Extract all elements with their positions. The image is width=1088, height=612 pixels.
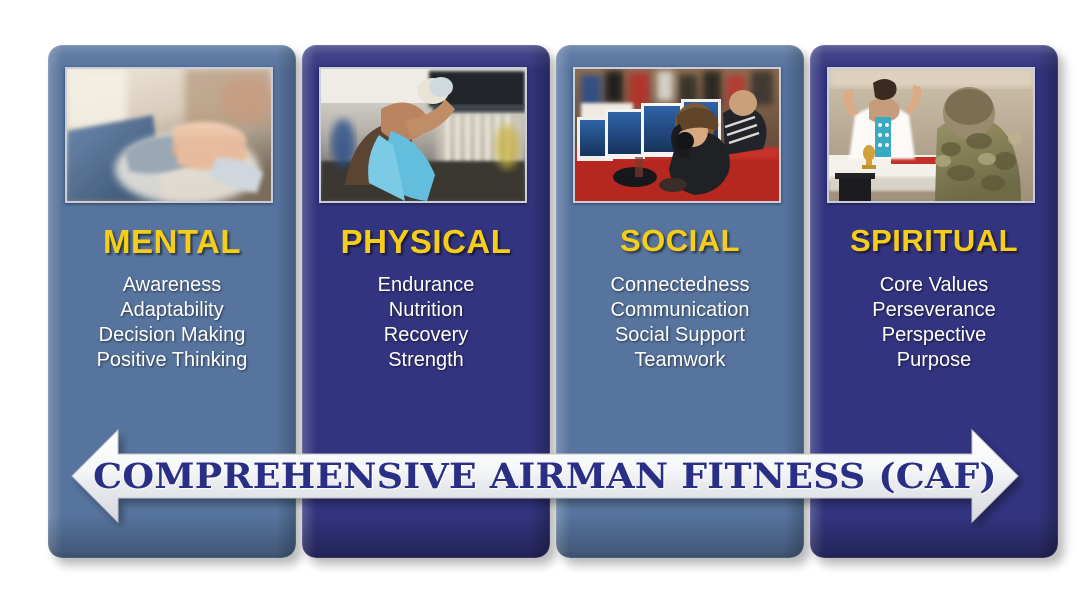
list-item: Endurance	[306, 273, 546, 298]
photo-mental	[65, 67, 273, 203]
list-item: Communication	[560, 298, 800, 323]
pillar-list-physical: Endurance Nutrition Recovery Strength	[306, 273, 546, 373]
pillar-title-physical: PHYSICAL	[302, 223, 550, 261]
infographic-canvas: MENTAL Awareness Adaptability Decision M…	[0, 0, 1088, 612]
photo-mental-art	[67, 69, 271, 201]
photo-spiritual	[827, 67, 1035, 203]
pillar-title-social: SOCIAL	[556, 223, 804, 259]
pillar-list-social: Connectedness Communication Social Suppo…	[560, 273, 800, 373]
list-item: Strength	[306, 348, 546, 373]
pillar-list-mental: Awareness Adaptability Decision Making P…	[52, 273, 292, 373]
photo-spiritual-art	[829, 69, 1033, 201]
list-item: Awareness	[52, 273, 292, 298]
list-item: Social Support	[560, 323, 800, 348]
pillar-title-mental: MENTAL	[48, 223, 296, 261]
pillar-title-spiritual: SPIRITUAL	[810, 223, 1058, 259]
list-item: Perseverance	[814, 298, 1054, 323]
photo-social	[573, 67, 781, 203]
caf-banner[interactable]: COMPREHENSIVE AIRMAN FITNESS (CAF)	[66, 424, 1024, 528]
pillar-list-spiritual: Core Values Perseverance Perspective Pur…	[814, 273, 1054, 373]
list-item: Teamwork	[560, 348, 800, 373]
list-item: Nutrition	[306, 298, 546, 323]
list-item: Decision Making	[52, 323, 292, 348]
photo-physical	[319, 67, 527, 203]
list-item: Connectedness	[560, 273, 800, 298]
list-item: Recovery	[306, 323, 546, 348]
photo-physical-art	[321, 69, 525, 201]
list-item: Perspective	[814, 323, 1054, 348]
list-item: Positive Thinking	[52, 348, 292, 373]
list-item: Adaptability	[52, 298, 292, 323]
list-item: Purpose	[814, 348, 1054, 373]
photo-social-art	[575, 69, 779, 201]
list-item: Core Values	[814, 273, 1054, 298]
caf-banner-label: COMPREHENSIVE AIRMAN FITNESS (CAF)	[95, 424, 996, 528]
